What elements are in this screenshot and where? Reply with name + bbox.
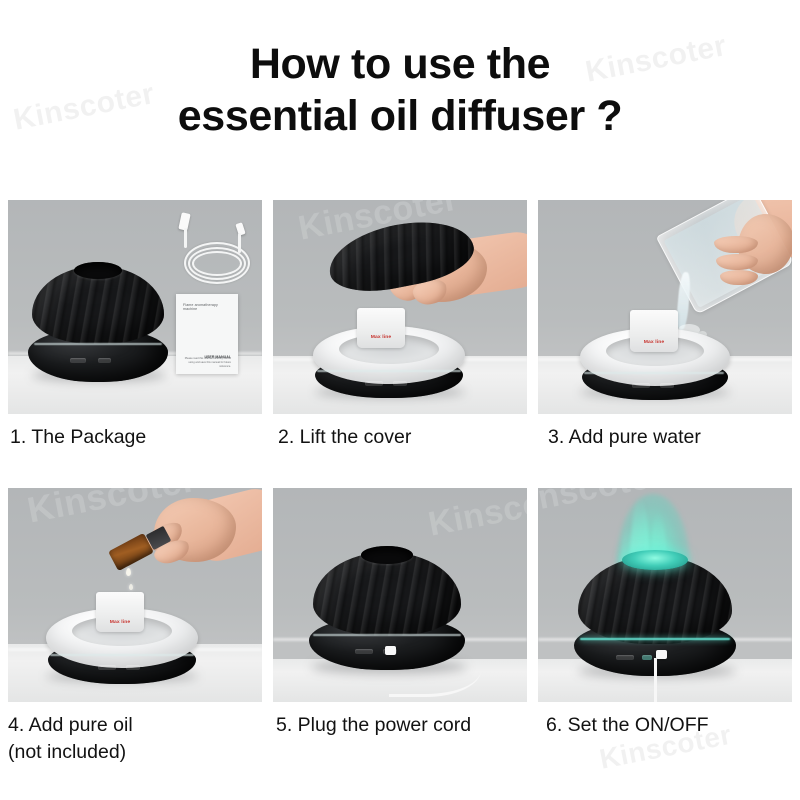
step-caption-4: 4. Add pure oil (not included) xyxy=(8,712,133,765)
step-image-3: Max line xyxy=(538,200,792,414)
user-manual: Flame aromatherapy machine USER MANUAL P… xyxy=(176,294,238,374)
page-title: How to use the essential oil diffuser ? xyxy=(0,38,800,143)
step-image-2: Kinscoter Max line xyxy=(273,200,527,414)
water-tank: Max line xyxy=(96,592,144,632)
title-line-2: essential oil diffuser ? xyxy=(0,90,800,142)
step-image-4: Kinscoter Max line xyxy=(8,488,262,702)
max-line-label: Max line xyxy=(96,619,144,625)
step-image-1: Flame aromatherapy machine USER MANUAL P… xyxy=(8,200,262,414)
manual-title: Flame aromatherapy machine xyxy=(183,303,231,311)
step-caption-2: 2. Lift the cover xyxy=(278,424,411,451)
step-image-5: Kinscoter xyxy=(273,488,527,702)
step-caption-3: 3. Add pure water xyxy=(548,424,701,451)
oil-drop xyxy=(126,568,131,576)
power-button[interactable] xyxy=(616,655,634,660)
max-line-label: Max line xyxy=(357,334,405,340)
step-caption-1: 1. The Package xyxy=(10,424,146,451)
water-tank: Max line xyxy=(630,310,678,352)
max-line-label: Max line xyxy=(630,339,678,345)
step-caption-5: 5. Plug the power cord xyxy=(276,712,471,739)
flame-aperture xyxy=(622,550,688,570)
water-tank: Max line xyxy=(357,308,405,348)
mode-button[interactable] xyxy=(642,655,652,660)
oil-drop xyxy=(129,584,133,590)
step-image-6: Kinscoter xyxy=(538,488,792,702)
title-line-1: How to use the xyxy=(0,38,800,90)
manual-body: Please read this manual carefully before… xyxy=(183,357,231,369)
step-caption-6: 6. Set the ON/OFF xyxy=(546,712,709,739)
power-cord xyxy=(654,658,669,702)
